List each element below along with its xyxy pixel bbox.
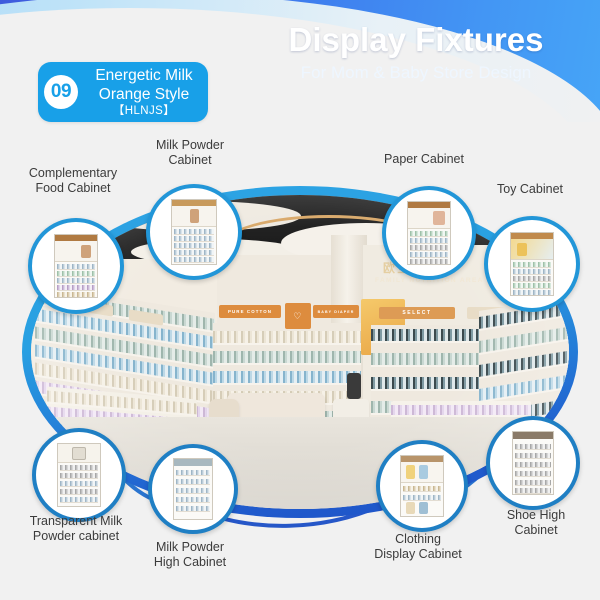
page-title: Display Fixtures xyxy=(246,20,586,60)
cabinet-thumbnail xyxy=(407,201,451,265)
cabinet-thumbnail xyxy=(173,458,213,520)
cabinet-thumbnail xyxy=(510,232,554,296)
style-badge: 09 Energetic Milk Orange Style 【HLNJS】 xyxy=(38,62,208,122)
pure-cotton-sign: PURE COTTON xyxy=(219,305,281,318)
callout-bubble[interactable] xyxy=(486,416,580,510)
callout-label: Transparent Milk Powder cabinet xyxy=(10,514,142,544)
callout-bubble[interactable] xyxy=(32,428,126,522)
trash-bin xyxy=(347,373,361,399)
cabinet-thumbnail xyxy=(57,443,101,507)
callout-bubble[interactable] xyxy=(28,218,124,314)
poster-canvas: Display Fixtures For Mom & Baby Store De… xyxy=(0,0,600,600)
diaper-sign: BABY DIAPER xyxy=(313,305,359,318)
cabinet-thumbnail xyxy=(512,431,554,495)
badge-line-1: Energetic Milk xyxy=(82,66,206,85)
cabinet-thumbnail xyxy=(171,199,217,265)
badge-text: Energetic Milk Orange Style 【HLNJS】 xyxy=(82,66,206,119)
callout-label: Milk Powder High Cabinet xyxy=(126,540,254,570)
page-subtitle: For Mom & Baby Store Design xyxy=(246,61,586,85)
callout-bubble[interactable] xyxy=(146,184,242,280)
header-wave-base xyxy=(0,122,600,148)
title-block: Display Fixtures For Mom & Baby Store De… xyxy=(246,20,586,85)
callout-bubble[interactable] xyxy=(382,186,476,280)
callout-bubble[interactable] xyxy=(376,440,468,532)
heart-icon: ♡ xyxy=(285,303,311,329)
callout-label: Milk Powder Cabinet xyxy=(128,138,252,168)
select-sign: SELECT xyxy=(379,307,455,319)
cabinet-thumbnail xyxy=(400,455,444,517)
cabinet-thumbnail xyxy=(54,234,98,298)
callout-bubble[interactable] xyxy=(148,444,238,534)
badge-line-2: Orange Style xyxy=(82,85,206,104)
callout-label: Toy Cabinet xyxy=(472,182,588,197)
callout-label: Paper Cabinet xyxy=(360,152,488,167)
callout-label: Complementary Food Cabinet xyxy=(8,166,138,196)
callout-bubble[interactable] xyxy=(484,216,580,312)
callout-label: Shoe High Cabinet xyxy=(478,508,594,538)
callout-label: Clothing Display Cabinet xyxy=(350,532,486,562)
badge-number: 09 xyxy=(44,75,78,109)
badge-code: 【HLNJS】 xyxy=(82,104,206,119)
